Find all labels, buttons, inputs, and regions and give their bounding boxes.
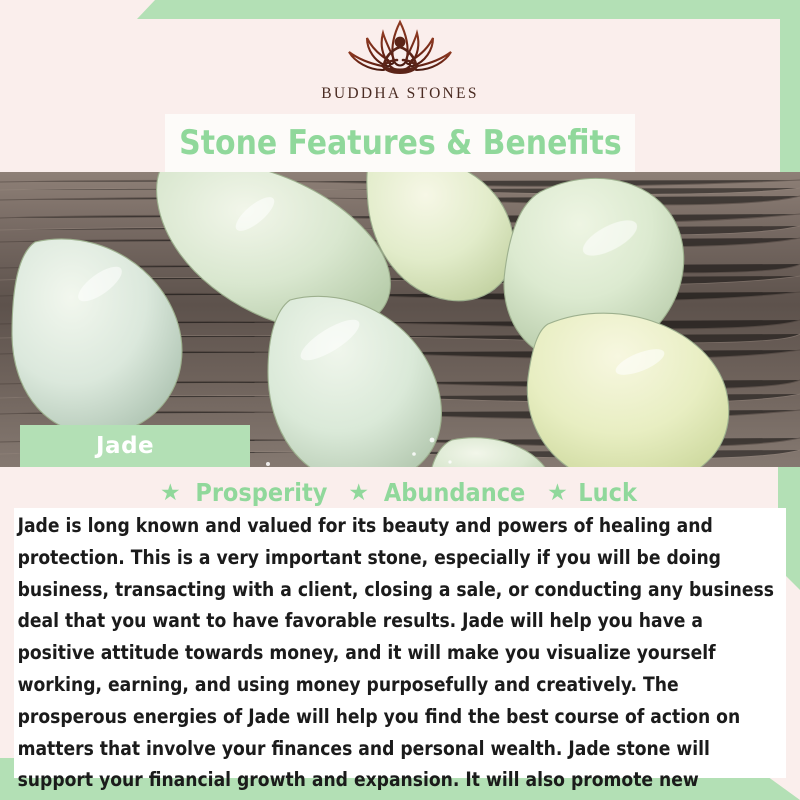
stone-name-text: Jade — [96, 433, 154, 459]
brand-header: BUDDHA STONES — [0, 0, 800, 118]
title-banner: Stone Features & Benefits — [165, 114, 635, 172]
description-panel: Jade is long known and valued for its be… — [14, 508, 786, 778]
benefit-item-abundance: ★ Abundance — [348, 478, 533, 507]
benefits-row: ★ Prosperity ★ Abundance ★ Luck — [0, 478, 800, 507]
product-photo — [0, 172, 800, 467]
benefit-label: Abundance — [384, 478, 525, 507]
product-info-card: BUDDHA STONES Stone Features & Benefits — [0, 0, 800, 800]
star-icon: ★ — [348, 481, 369, 504]
brand-name: BUDDHA STONES — [321, 85, 479, 103]
benefit-label: Prosperity — [195, 478, 327, 507]
description-text: Jade is long known and valued for its be… — [14, 508, 785, 800]
star-icon: ★ — [160, 481, 181, 504]
lotus-meditation-logo-icon — [325, 18, 475, 80]
benefit-label: Luck — [578, 478, 637, 507]
page-title: Stone Features & Benefits — [179, 123, 621, 163]
benefit-item-luck: ★ Luck — [547, 478, 640, 507]
benefit-item-prosperity: ★ Prosperity — [160, 478, 334, 507]
stone-name-label: Jade — [20, 425, 250, 467]
star-icon: ★ — [547, 481, 568, 504]
